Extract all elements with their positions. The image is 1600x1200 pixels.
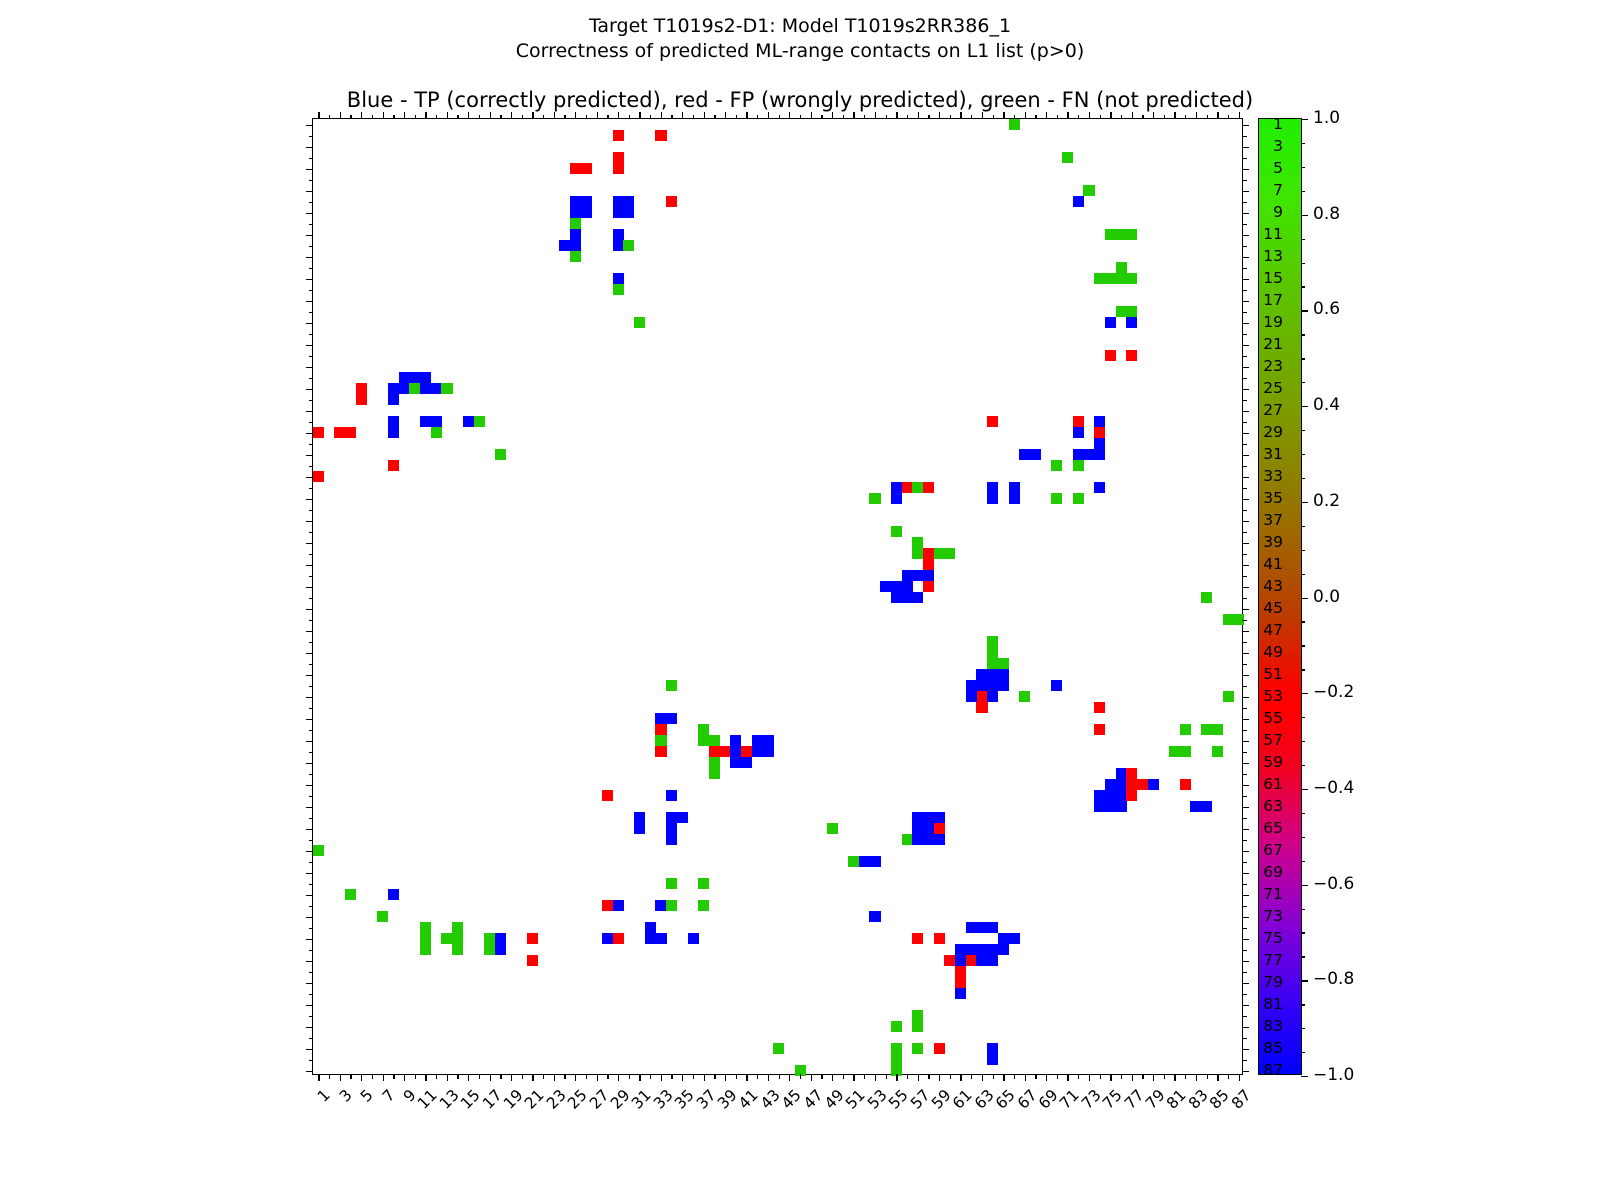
contact-cell: [1051, 460, 1062, 471]
contact-cell: [923, 548, 934, 559]
y-axis-label: 47: [1223, 621, 1283, 639]
contact-cell: [966, 680, 977, 691]
y-axis-label: 71: [1223, 885, 1283, 903]
y-axis-label: 11: [1223, 225, 1283, 243]
y-axis-tick: [309, 532, 314, 533]
x-axis-tick: [564, 1074, 565, 1079]
contact-cell: [388, 889, 399, 900]
contact-cell: [987, 636, 998, 647]
contact-cell: [570, 207, 581, 218]
contact-cell: [623, 240, 634, 251]
y-axis-tick: [309, 158, 314, 159]
y-axis-tick: [309, 972, 314, 973]
contact-cell: [966, 922, 977, 933]
x-axis-tick-top: [1110, 112, 1111, 119]
y-axis-label: 55: [1223, 709, 1283, 727]
contact-cell: [1094, 449, 1105, 460]
contact-cell: [602, 933, 613, 944]
contact-cell: [399, 372, 410, 383]
contact-cell: [570, 163, 581, 174]
x-axis-tick-top: [682, 112, 683, 119]
contact-cell: [677, 812, 688, 823]
contact-cell: [912, 548, 923, 559]
x-axis-tick-top: [564, 115, 565, 120]
y-axis-tick: [309, 1038, 314, 1039]
contact-cell: [944, 955, 955, 966]
x-axis-tick: [1035, 1074, 1036, 1079]
contact-cell: [1169, 746, 1180, 757]
x-axis-tick: [447, 1074, 448, 1081]
contact-cell: [1126, 273, 1137, 284]
y-axis-label: 1: [1223, 115, 1283, 133]
contact-cell: [484, 944, 495, 955]
y-axis-label: 35: [1223, 489, 1283, 507]
y-axis-tick: [309, 598, 314, 599]
x-axis-tick: [436, 1074, 437, 1079]
x-axis-tick-top: [522, 115, 523, 120]
x-axis-tick: [1132, 1074, 1133, 1081]
y-axis-tick: [306, 939, 313, 940]
x-axis-tick: [971, 1074, 972, 1079]
x-axis-tick: [939, 1074, 940, 1081]
contact-cell: [655, 900, 666, 911]
contact-cell: [345, 889, 356, 900]
y-axis-tick: [306, 213, 313, 214]
contact-cell: [570, 229, 581, 240]
x-axis-tick-top: [661, 112, 662, 119]
x-axis-tick-top: [811, 112, 812, 119]
y-axis-tick: [309, 906, 314, 907]
x-axis-tick: [853, 1074, 854, 1081]
contact-cell: [613, 900, 624, 911]
contact-cell: [431, 427, 442, 438]
x-axis-tick: [372, 1074, 373, 1079]
x-axis-tick: [1057, 1074, 1058, 1079]
x-axis-tick-top: [372, 115, 373, 120]
contact-cell: [666, 680, 677, 691]
colorbar-minor-tick: [1301, 717, 1305, 718]
colorbar-minor-tick: [1301, 358, 1305, 359]
contact-cell: [869, 493, 880, 504]
contact-cell: [912, 812, 923, 823]
contact-cell: [1116, 768, 1127, 779]
contact-cell: [1126, 229, 1137, 240]
x-axis-tick-top: [597, 112, 598, 119]
contact-cell: [934, 548, 945, 559]
contact-cell: [613, 207, 624, 218]
x-axis-tick-top: [1067, 112, 1068, 119]
y-axis-tick: [306, 191, 313, 192]
y-axis-label: 31: [1223, 445, 1283, 463]
x-axis-tick-top: [704, 112, 705, 119]
y-axis-label: 33: [1223, 467, 1283, 485]
y-axis-tick: [306, 169, 313, 170]
x-axis-tick-top: [383, 112, 384, 119]
contact-cell: [698, 735, 709, 746]
contact-cell: [1094, 427, 1105, 438]
x-axis-tick: [736, 1074, 737, 1079]
contact-cell: [880, 581, 891, 592]
contact-cell: [976, 955, 987, 966]
y-axis-tick: [309, 862, 314, 863]
y-axis-tick: [309, 884, 314, 885]
contact-cell: [1094, 724, 1105, 735]
x-axis-tick-top: [425, 112, 426, 119]
x-axis-tick-top: [714, 115, 715, 120]
contact-cell: [527, 955, 538, 966]
x-axis-tick: [768, 1074, 769, 1081]
colorbar-tick-label: 0.8: [1313, 204, 1340, 224]
colorbar-minor-tick: [1301, 526, 1305, 527]
contact-cell: [409, 372, 420, 383]
contact-cell: [709, 768, 720, 779]
contact-cell: [613, 933, 624, 944]
x-axis-tick-top: [329, 115, 330, 120]
x-axis-tick-top: [725, 112, 726, 119]
y-axis-label: 41: [1223, 555, 1283, 573]
contact-cell: [934, 823, 945, 834]
contact-cell: [923, 812, 934, 823]
x-axis-tick: [511, 1074, 512, 1081]
y-axis-tick: [306, 455, 313, 456]
x-axis-tick-top: [532, 112, 533, 119]
y-axis-tick: [309, 642, 314, 643]
contact-cell: [698, 724, 709, 735]
x-axis-tick: [704, 1074, 705, 1081]
contact-cell: [998, 933, 1009, 944]
colorbar-minor-tick: [1301, 191, 1305, 192]
y-axis-tick: [309, 774, 314, 775]
y-axis-label: 23: [1223, 357, 1283, 375]
y-axis-tick: [306, 1027, 313, 1028]
contact-cell: [912, 1010, 923, 1021]
y-axis-tick: [309, 224, 314, 225]
contact-cell: [966, 955, 977, 966]
contact-cell: [420, 933, 431, 944]
x-axis-tick: [468, 1074, 469, 1081]
x-axis-tick: [1078, 1074, 1079, 1079]
x-axis-tick: [650, 1074, 651, 1079]
contact-cell: [987, 1043, 998, 1054]
x-axis-tick-top: [629, 115, 630, 120]
x-axis-tick: [693, 1074, 694, 1079]
contact-cell: [388, 383, 399, 394]
contact-cell: [1201, 592, 1212, 603]
contact-cell: [698, 878, 709, 889]
contact-cell: [356, 394, 367, 405]
x-axis-tick-top: [1196, 112, 1197, 119]
x-axis-tick: [1164, 1074, 1165, 1079]
contact-cell: [452, 922, 463, 933]
x-axis-tick: [457, 1074, 458, 1079]
x-axis-tick-top: [490, 112, 491, 119]
colorbar-minor-tick: [1301, 885, 1305, 886]
contact-cell: [1073, 427, 1084, 438]
contact-cell: [976, 680, 987, 691]
contact-cell: [1126, 306, 1137, 317]
contact-cell: [666, 900, 677, 911]
x-axis-tick-top: [853, 112, 854, 119]
contact-cell: [1105, 779, 1116, 790]
contact-cell: [570, 218, 581, 229]
contact-cells-layer: [313, 119, 1242, 1074]
x-axis-tick: [746, 1074, 747, 1081]
contact-cell: [902, 834, 913, 845]
contact-cell: [891, 526, 902, 537]
x-axis-tick-top: [1121, 115, 1122, 120]
colorbar-tick: [1301, 1076, 1308, 1077]
contact-cell: [399, 383, 410, 394]
colorbar-tick-label: 1.0: [1313, 108, 1340, 128]
contact-cell: [1030, 449, 1041, 460]
x-axis-tick-top: [361, 112, 362, 119]
contact-cell: [987, 922, 998, 933]
colorbar-minor-tick: [1301, 789, 1305, 790]
contact-cell: [1116, 790, 1127, 801]
y-axis-tick: [306, 807, 313, 808]
contact-cell: [1116, 779, 1127, 790]
x-axis-tick-top: [960, 112, 961, 119]
contact-cell: [859, 856, 870, 867]
contact-cell: [623, 207, 634, 218]
contact-cell: [613, 229, 624, 240]
contact-cell: [613, 163, 624, 174]
y-axis-label: 83: [1223, 1017, 1283, 1035]
contact-cell: [441, 933, 452, 944]
contact-cell: [313, 471, 324, 482]
y-axis-tick: [309, 268, 314, 269]
y-axis-tick: [306, 543, 313, 544]
contact-cell: [613, 284, 624, 295]
x-axis-tick-top: [1174, 112, 1175, 119]
contact-cell: [1105, 790, 1116, 801]
x-axis-tick: [415, 1074, 416, 1079]
x-axis-tick: [950, 1074, 951, 1079]
y-axis-label: 21: [1223, 335, 1283, 353]
x-axis-tick: [383, 1074, 384, 1081]
contact-cell: [666, 812, 677, 823]
y-axis-tick: [306, 235, 313, 236]
colorbar-minor-tick: [1301, 143, 1305, 144]
x-axis-tick-top: [1057, 115, 1058, 120]
legend-description: Blue - TP (correctly predicted), red - F…: [0, 88, 1600, 112]
y-axis-label: 13: [1223, 247, 1283, 265]
contact-cell: [944, 548, 955, 559]
contact-cell: [634, 823, 645, 834]
x-axis-tick-top: [1217, 112, 1218, 119]
contact-cell: [1062, 152, 1073, 163]
y-axis-label: 69: [1223, 863, 1283, 881]
colorbar-minor-tick: [1301, 550, 1305, 551]
y-axis-tick: [306, 719, 313, 720]
x-axis-tick-top: [971, 115, 972, 120]
x-axis-tick: [800, 1074, 801, 1079]
contact-cell: [495, 449, 506, 460]
y-axis-label: 39: [1223, 533, 1283, 551]
x-axis-tick-top: [693, 115, 694, 120]
y-axis-tick: [306, 873, 313, 874]
x-axis-tick: [607, 1074, 608, 1079]
y-axis-tick: [306, 983, 313, 984]
contact-cell: [976, 669, 987, 680]
x-axis-tick: [1089, 1074, 1090, 1081]
x-axis-tick: [318, 1074, 319, 1081]
contact-cell: [570, 251, 581, 262]
colorbar-minor-tick: [1301, 382, 1305, 383]
x-axis-tick: [1217, 1074, 1218, 1081]
contact-cell: [1009, 933, 1020, 944]
contact-cell: [1094, 438, 1105, 449]
y-axis-tick: [306, 961, 313, 962]
contact-cell: [666, 790, 677, 801]
colorbar-minor-tick: [1301, 741, 1305, 742]
contact-cell: [698, 900, 709, 911]
y-axis-tick: [309, 840, 314, 841]
x-axis-tick-top: [768, 112, 769, 119]
y-axis-tick: [309, 510, 314, 511]
contact-cell: [1212, 746, 1223, 757]
contact-cell: [1126, 350, 1137, 361]
contact-cell: [976, 922, 987, 933]
contact-cell: [1116, 273, 1127, 284]
contact-cell: [912, 482, 923, 493]
y-axis-label: 9: [1223, 203, 1283, 221]
contact-cell: [869, 856, 880, 867]
x-axis-tick: [618, 1074, 619, 1081]
contact-cell: [1105, 801, 1116, 812]
contact-cell: [666, 196, 677, 207]
contact-cell: [623, 196, 634, 207]
contact-cell: [912, 823, 923, 834]
colorbar-minor-tick: [1301, 909, 1305, 910]
contact-cell: [1083, 449, 1094, 460]
x-axis-tick-top: [350, 115, 351, 120]
contact-cell: [655, 713, 666, 724]
contact-cell: [581, 207, 592, 218]
contact-cell: [912, 1021, 923, 1032]
x-axis-tick-top: [1185, 115, 1186, 120]
contact-cell: [1105, 273, 1116, 284]
contact-cell: [923, 559, 934, 570]
colorbar-minor-tick: [1301, 693, 1305, 694]
x-axis-tick-top: [864, 115, 865, 120]
x-axis-tick-top: [950, 115, 951, 120]
x-axis-tick: [1153, 1074, 1154, 1081]
x-axis-tick-top: [500, 115, 501, 120]
x-axis-tick: [1196, 1074, 1197, 1081]
x-axis-tick: [329, 1074, 330, 1079]
contact-cell: [934, 812, 945, 823]
x-axis-tick-top: [1003, 112, 1004, 119]
x-axis-tick-top: [511, 112, 512, 119]
contact-cell: [1212, 724, 1223, 735]
y-axis-label: 81: [1223, 995, 1283, 1013]
colorbar-minor-tick: [1301, 669, 1305, 670]
contact-cell: [634, 317, 645, 328]
contact-map-plot-area: [312, 118, 1243, 1075]
y-axis-label: 19: [1223, 313, 1283, 331]
x-axis-tick-top: [575, 112, 576, 119]
y-axis-tick: [306, 675, 313, 676]
contact-cell: [955, 977, 966, 988]
contact-cell: [976, 702, 987, 713]
x-axis-tick-top: [993, 115, 994, 120]
contact-cell: [934, 1043, 945, 1054]
contact-cell: [634, 812, 645, 823]
y-axis-tick: [309, 290, 314, 291]
x-axis-tick-top: [875, 112, 876, 119]
y-axis-label: 43: [1223, 577, 1283, 595]
contact-cell: [377, 911, 388, 922]
x-axis-tick: [1003, 1074, 1004, 1081]
contact-cell: [1094, 416, 1105, 427]
y-axis-tick: [306, 433, 313, 434]
y-axis-label: 77: [1223, 951, 1283, 969]
contact-cell: [955, 988, 966, 999]
contact-cell: [902, 570, 913, 581]
x-axis-tick: [907, 1074, 908, 1079]
y-axis-tick: [309, 730, 314, 731]
colorbar-tick-label: 0.4: [1313, 395, 1340, 415]
x-axis-tick-top: [907, 115, 908, 120]
x-axis-tick-top: [1078, 115, 1079, 120]
contact-cell: [495, 944, 506, 955]
contact-cell: [581, 163, 592, 174]
x-axis-tick-top: [650, 115, 651, 120]
contact-cell: [1051, 493, 1062, 504]
contact-cell: [987, 482, 998, 493]
contact-cell: [1180, 779, 1191, 790]
contact-cell: [966, 691, 977, 702]
contact-cell: [420, 944, 431, 955]
x-axis-tick-top: [618, 112, 619, 119]
contact-cell: [313, 845, 324, 856]
x-axis-tick: [1014, 1074, 1015, 1079]
contact-cell: [955, 966, 966, 977]
contact-cell: [452, 944, 463, 955]
contact-cell: [987, 416, 998, 427]
colorbar-minor-tick: [1301, 813, 1305, 814]
y-axis-label: 87: [1223, 1061, 1283, 1079]
colorbar-tick: [1301, 406, 1308, 407]
y-axis-tick: [306, 1005, 313, 1006]
x-axis-tick-top: [479, 115, 480, 120]
contact-cell: [762, 746, 773, 757]
contact-cell: [581, 196, 592, 207]
y-axis-tick: [306, 125, 313, 126]
y-axis-label: 45: [1223, 599, 1283, 617]
x-axis-tick: [1185, 1074, 1186, 1079]
y-axis-label: 85: [1223, 1039, 1283, 1057]
x-axis-tick-top: [1153, 112, 1154, 119]
y-axis-tick: [309, 1060, 314, 1061]
y-axis-tick: [306, 741, 313, 742]
x-axis-tick: [1046, 1074, 1047, 1081]
contact-cell: [613, 240, 624, 251]
contact-cell: [730, 746, 741, 757]
contact-cell: [955, 944, 966, 955]
x-axis-tick-top: [554, 112, 555, 119]
x-axis-tick-top: [447, 112, 448, 119]
contact-cell: [762, 735, 773, 746]
contact-cell: [1201, 801, 1212, 812]
colorbar-tick: [1301, 310, 1308, 311]
y-axis-label: 79: [1223, 973, 1283, 991]
y-axis-label: 61: [1223, 775, 1283, 793]
contact-cell: [388, 416, 399, 427]
y-axis-tick: [309, 356, 314, 357]
x-axis-tick: [918, 1074, 919, 1081]
